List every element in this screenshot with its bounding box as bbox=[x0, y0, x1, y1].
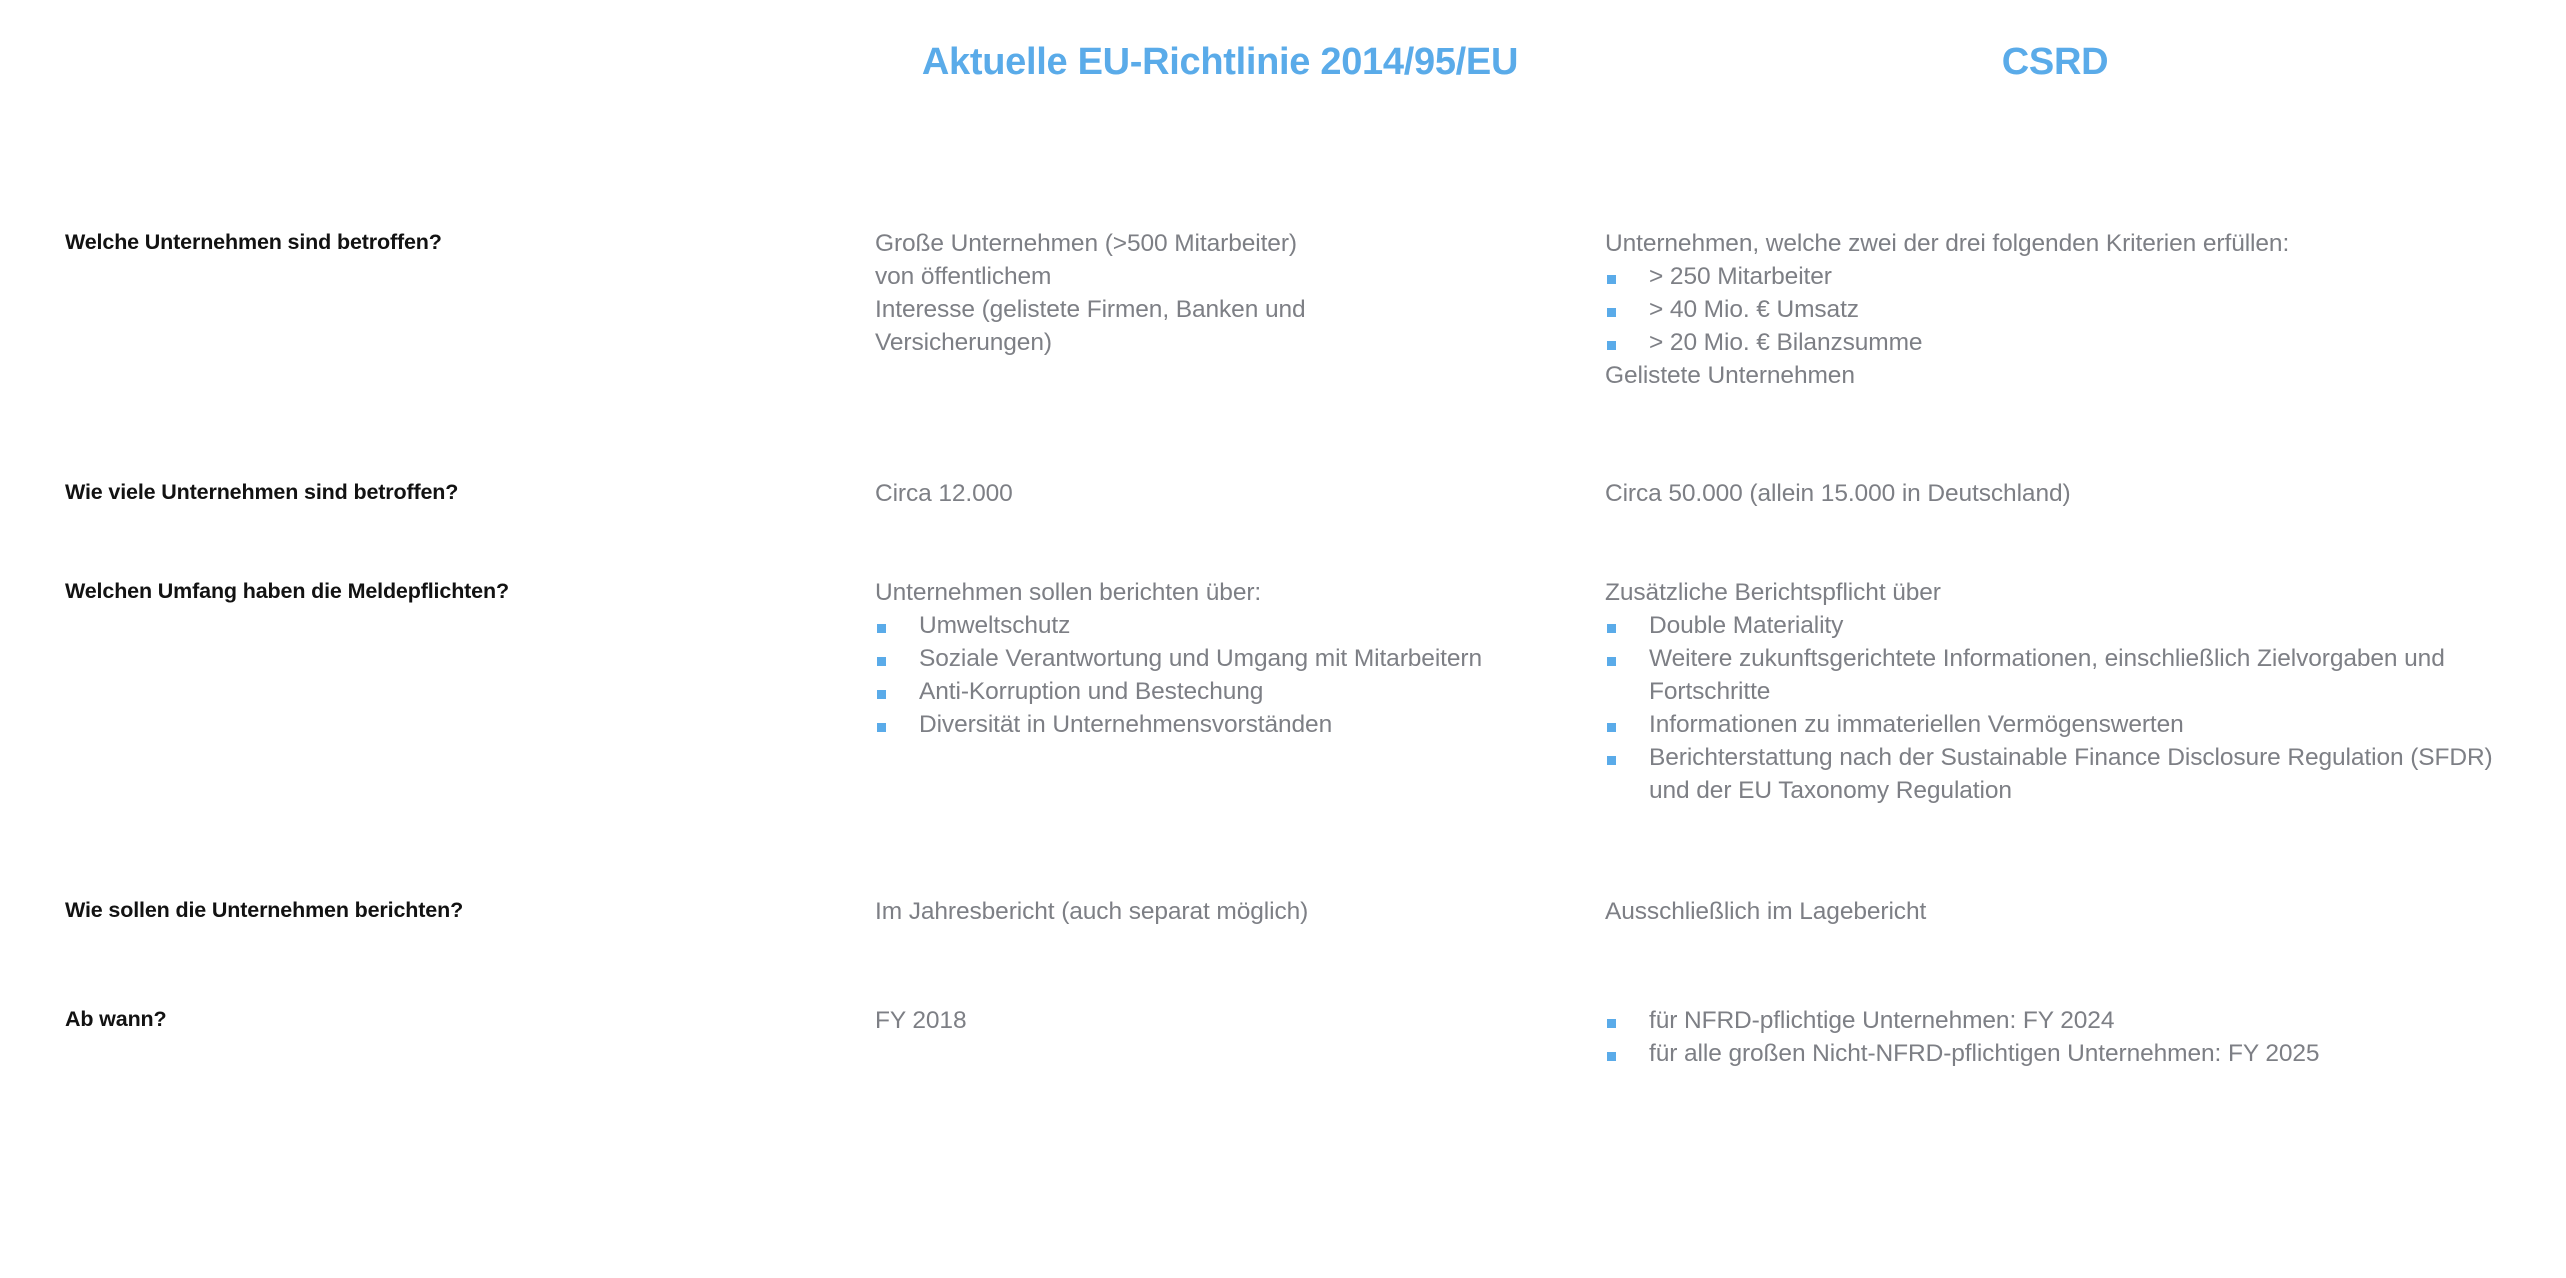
cell-csrd: Ausschließlich im Lagebericht bbox=[1605, 896, 2535, 929]
bullet-text: Informationen zu immateriellen Vermögens… bbox=[1649, 711, 2184, 738]
square-bullet-icon bbox=[1607, 756, 1616, 765]
cell-current-eu-directive: FY 2018 bbox=[875, 1005, 1575, 1038]
cell-csrd: Circa 50.000 (allein 15.000 in Deutschla… bbox=[1605, 478, 2535, 511]
square-bullet-icon bbox=[877, 624, 886, 633]
square-bullet-icon bbox=[1607, 624, 1616, 633]
cell-lead-text: Circa 12.000 bbox=[875, 478, 1575, 511]
square-bullet-icon bbox=[1607, 1052, 1616, 1061]
cell-lead-text: Unternehmen, welche zwei der drei folgen… bbox=[1605, 228, 2535, 261]
bullet-list: für NFRD-pflichtige Unternehmen: FY 2024… bbox=[1605, 1005, 2535, 1071]
bullet-text: für alle großen Nicht-NFRD-pflichtigen U… bbox=[1649, 1040, 2319, 1067]
square-bullet-icon bbox=[877, 657, 886, 666]
bullet-text: Umweltschutz bbox=[919, 612, 1070, 639]
bullet-text: > 20 Mio. € Bilanzsumme bbox=[1649, 329, 1922, 356]
row-question-label: Ab wann? bbox=[65, 1005, 825, 1033]
bullet-item: Umweltschutz bbox=[875, 610, 1575, 643]
bullet-item: > 20 Mio. € Bilanzsumme bbox=[1605, 327, 2535, 360]
row-question-label: Wie viele Unternehmen sind betroffen? bbox=[65, 478, 825, 506]
bullet-text: Soziale Verantwortung und Umgang mit Mit… bbox=[919, 645, 1482, 672]
bullet-item: für alle großen Nicht-NFRD-pflichtigen U… bbox=[1605, 1038, 2535, 1071]
square-bullet-icon bbox=[1607, 723, 1616, 732]
bullet-text: Double Materiality bbox=[1649, 612, 1843, 639]
square-bullet-icon bbox=[1607, 1019, 1616, 1028]
bullet-text: Anti-Korruption und Bestechung bbox=[919, 678, 1263, 705]
cell-current-eu-directive: Große Unternehmen (>500 Mitarbeiter) von… bbox=[875, 228, 1575, 360]
cell-current-eu-directive: Circa 12.000 bbox=[875, 478, 1575, 511]
bullet-item: > 250 Mitarbeiter bbox=[1605, 261, 2535, 294]
row-question-label: Welchen Umfang haben die Meldepflichten? bbox=[65, 577, 825, 605]
bullet-item: Berichterstattung nach der Sustainable F… bbox=[1605, 742, 2535, 808]
row-question-label: Wie sollen die Unternehmen berichten? bbox=[65, 896, 825, 924]
bullet-item: für NFRD-pflichtige Unternehmen: FY 2024 bbox=[1605, 1005, 2535, 1038]
row-question-label: Welche Unternehmen sind betroffen? bbox=[65, 228, 825, 256]
bullet-item: > 40 Mio. € Umsatz bbox=[1605, 294, 2535, 327]
cell-current-eu-directive: Unternehmen sollen berichten über:Umwelt… bbox=[875, 577, 1575, 742]
comparison-table-slide: Aktuelle EU-Richtlinie 2014/95/EU CSRD W… bbox=[0, 0, 2566, 1278]
cell-lead-text: Im Jahresbericht (auch separat möglich) bbox=[875, 896, 1575, 929]
square-bullet-icon bbox=[1607, 657, 1616, 666]
square-bullet-icon bbox=[1607, 341, 1616, 350]
bullet-item: Soziale Verantwortung und Umgang mit Mit… bbox=[875, 643, 1575, 676]
bullet-text: für NFRD-pflichtige Unternehmen: FY 2024 bbox=[1649, 1007, 2114, 1034]
cell-csrd: für NFRD-pflichtige Unternehmen: FY 2024… bbox=[1605, 1005, 2535, 1071]
square-bullet-icon bbox=[877, 723, 886, 732]
cell-tail-text: Gelistete Unternehmen bbox=[1605, 360, 2535, 393]
square-bullet-icon bbox=[1607, 308, 1616, 317]
bullet-item: Double Materiality bbox=[1605, 610, 2535, 643]
bullet-list: > 250 Mitarbeiter> 40 Mio. € Umsatz> 20 … bbox=[1605, 261, 2535, 360]
bullet-list: Double MaterialityWeitere zukunftsgerich… bbox=[1605, 610, 2535, 808]
bullet-text: > 250 Mitarbeiter bbox=[1649, 263, 1832, 290]
cell-current-eu-directive: Im Jahresbericht (auch separat möglich) bbox=[875, 896, 1575, 929]
cell-lead-text: Unternehmen sollen berichten über: bbox=[875, 577, 1575, 610]
cell-csrd: Unternehmen, welche zwei der drei folgen… bbox=[1605, 228, 2535, 393]
bullet-item: Weitere zukunftsgerichtete Informationen… bbox=[1605, 643, 2535, 709]
cell-lead-text: Ausschließlich im Lagebericht bbox=[1605, 896, 2535, 929]
square-bullet-icon bbox=[1607, 275, 1616, 284]
bullet-item: Informationen zu immateriellen Vermögens… bbox=[1605, 709, 2535, 742]
column-header-csrd: CSRD bbox=[1605, 42, 2505, 82]
cell-lead-text: Große Unternehmen (>500 Mitarbeiter) von… bbox=[875, 228, 1575, 360]
column-header-current-eu-directive: Aktuelle EU-Richtlinie 2014/95/EU bbox=[875, 42, 1565, 82]
cell-lead-text: Zusätzliche Berichtspflicht über bbox=[1605, 577, 2535, 610]
bullet-text: Berichterstattung nach der Sustainable F… bbox=[1649, 744, 2493, 804]
bullet-text: Weitere zukunftsgerichtete Informationen… bbox=[1649, 645, 2445, 705]
cell-csrd: Zusätzliche Berichtspflicht überDouble M… bbox=[1605, 577, 2535, 808]
bullet-list: UmweltschutzSoziale Verantwortung und Um… bbox=[875, 610, 1575, 742]
square-bullet-icon bbox=[877, 690, 886, 699]
bullet-item: Diversität in Unternehmensvorständen bbox=[875, 709, 1575, 742]
bullet-text: Diversität in Unternehmensvorständen bbox=[919, 711, 1332, 738]
bullet-text: > 40 Mio. € Umsatz bbox=[1649, 296, 1859, 323]
cell-lead-text: FY 2018 bbox=[875, 1005, 1575, 1038]
bullet-item: Anti-Korruption und Bestechung bbox=[875, 676, 1575, 709]
cell-lead-text: Circa 50.000 (allein 15.000 in Deutschla… bbox=[1605, 478, 2535, 511]
